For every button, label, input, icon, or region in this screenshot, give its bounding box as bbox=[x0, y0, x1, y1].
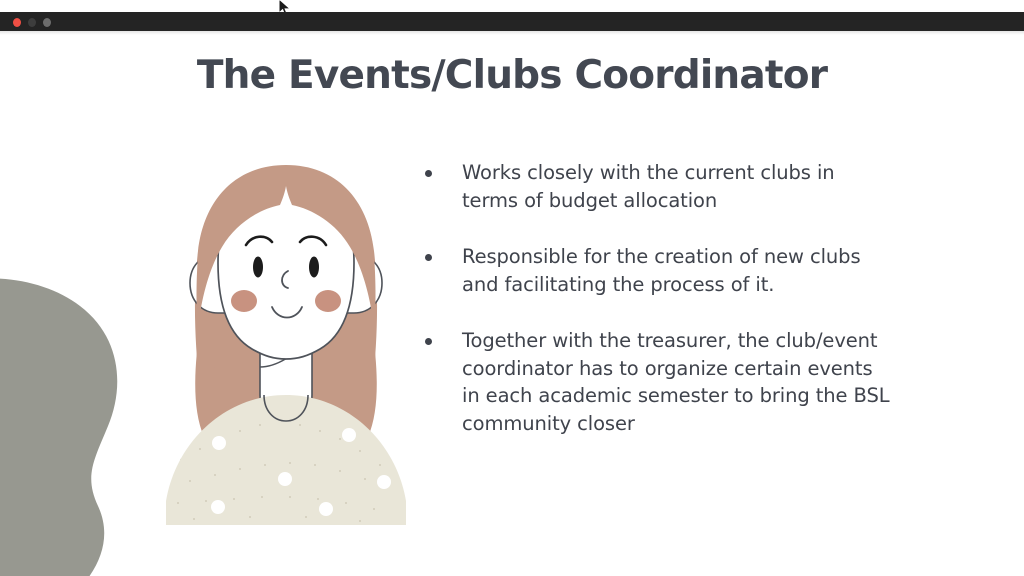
maximize-window-button[interactable] bbox=[43, 18, 51, 27]
bullet-text: Together with the treasurer, the club/ev… bbox=[462, 327, 896, 437]
bullet-list: Works closely with the current clubs in … bbox=[418, 159, 896, 437]
left-eye bbox=[253, 257, 263, 278]
right-cheek-blush bbox=[315, 290, 341, 312]
list-item: Works closely with the current clubs in … bbox=[418, 159, 896, 214]
browser-window: The Events/Clubs Coordinator bbox=[0, 0, 1024, 576]
minimize-window-button[interactable] bbox=[28, 18, 36, 27]
bullet-point-icon bbox=[418, 327, 462, 345]
bullet-text: Works closely with the current clubs in … bbox=[462, 159, 896, 214]
close-window-button[interactable] bbox=[13, 18, 21, 27]
page-title: The Events/Clubs Coordinator bbox=[0, 53, 1024, 98]
bullet-point-icon bbox=[418, 243, 462, 261]
list-item: Responsible for the creation of new club… bbox=[418, 243, 896, 298]
sage-blob-decoration bbox=[0, 276, 160, 576]
desktop-backdrop bbox=[0, 0, 1024, 12]
bullet-point-icon bbox=[418, 159, 462, 177]
window-titlebar[interactable] bbox=[0, 12, 1024, 31]
left-cheek-blush bbox=[231, 290, 257, 312]
window-controls bbox=[13, 18, 51, 27]
presentation-slide: The Events/Clubs Coordinator bbox=[0, 31, 1024, 576]
bullet-text: Responsible for the creation of new club… bbox=[462, 243, 896, 298]
list-item: Together with the treasurer, the club/ev… bbox=[418, 327, 896, 437]
woman-avatar-illustration bbox=[160, 159, 412, 525]
right-eye bbox=[309, 257, 319, 278]
